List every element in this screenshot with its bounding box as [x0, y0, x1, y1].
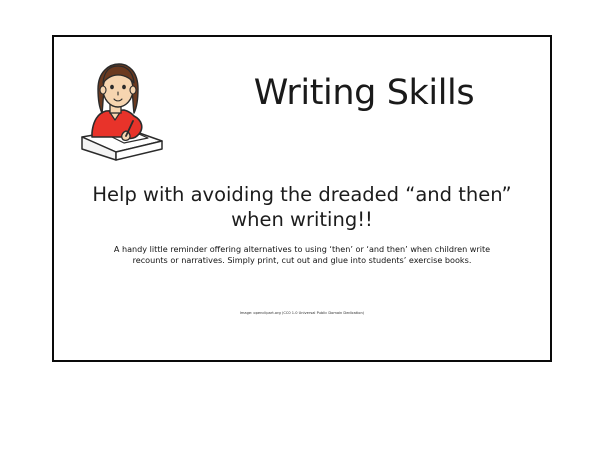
slide-subtitle: Help with avoiding the dreaded “and then… [64, 182, 540, 233]
slide-frame: Writing Skills Help with avoiding the dr… [52, 35, 552, 362]
page-title: Writing Skills [199, 75, 529, 113]
slide-body-text: A handy little reminder offering alterna… [96, 244, 508, 267]
image-credit-text: Image: openclipart.org (CC0 1.0 Universa… [54, 311, 550, 316]
slide-header-row: Writing Skills [54, 37, 550, 167]
girl-writing-at-desk-clipart [76, 59, 166, 164]
